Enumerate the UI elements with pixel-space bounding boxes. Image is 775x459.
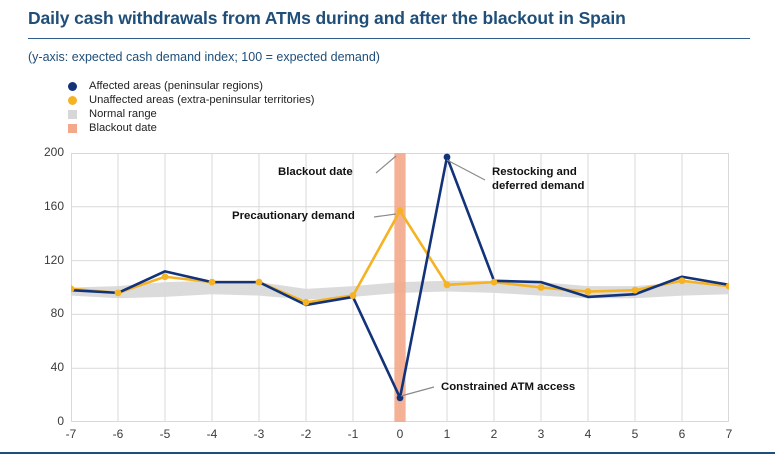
- chart-page: Daily cash withdrawals from ATMs during …: [0, 0, 775, 459]
- annotation-constrained-atm-access-leader: [401, 387, 434, 396]
- footer-divider: [0, 452, 775, 454]
- annotation-precautionary-demand-leader: [374, 214, 396, 217]
- annotation-restocking-line1-leader: [447, 160, 485, 180]
- annotation-leader-lines: [0, 0, 775, 459]
- annotation-blackout-date-leader: [376, 156, 396, 173]
